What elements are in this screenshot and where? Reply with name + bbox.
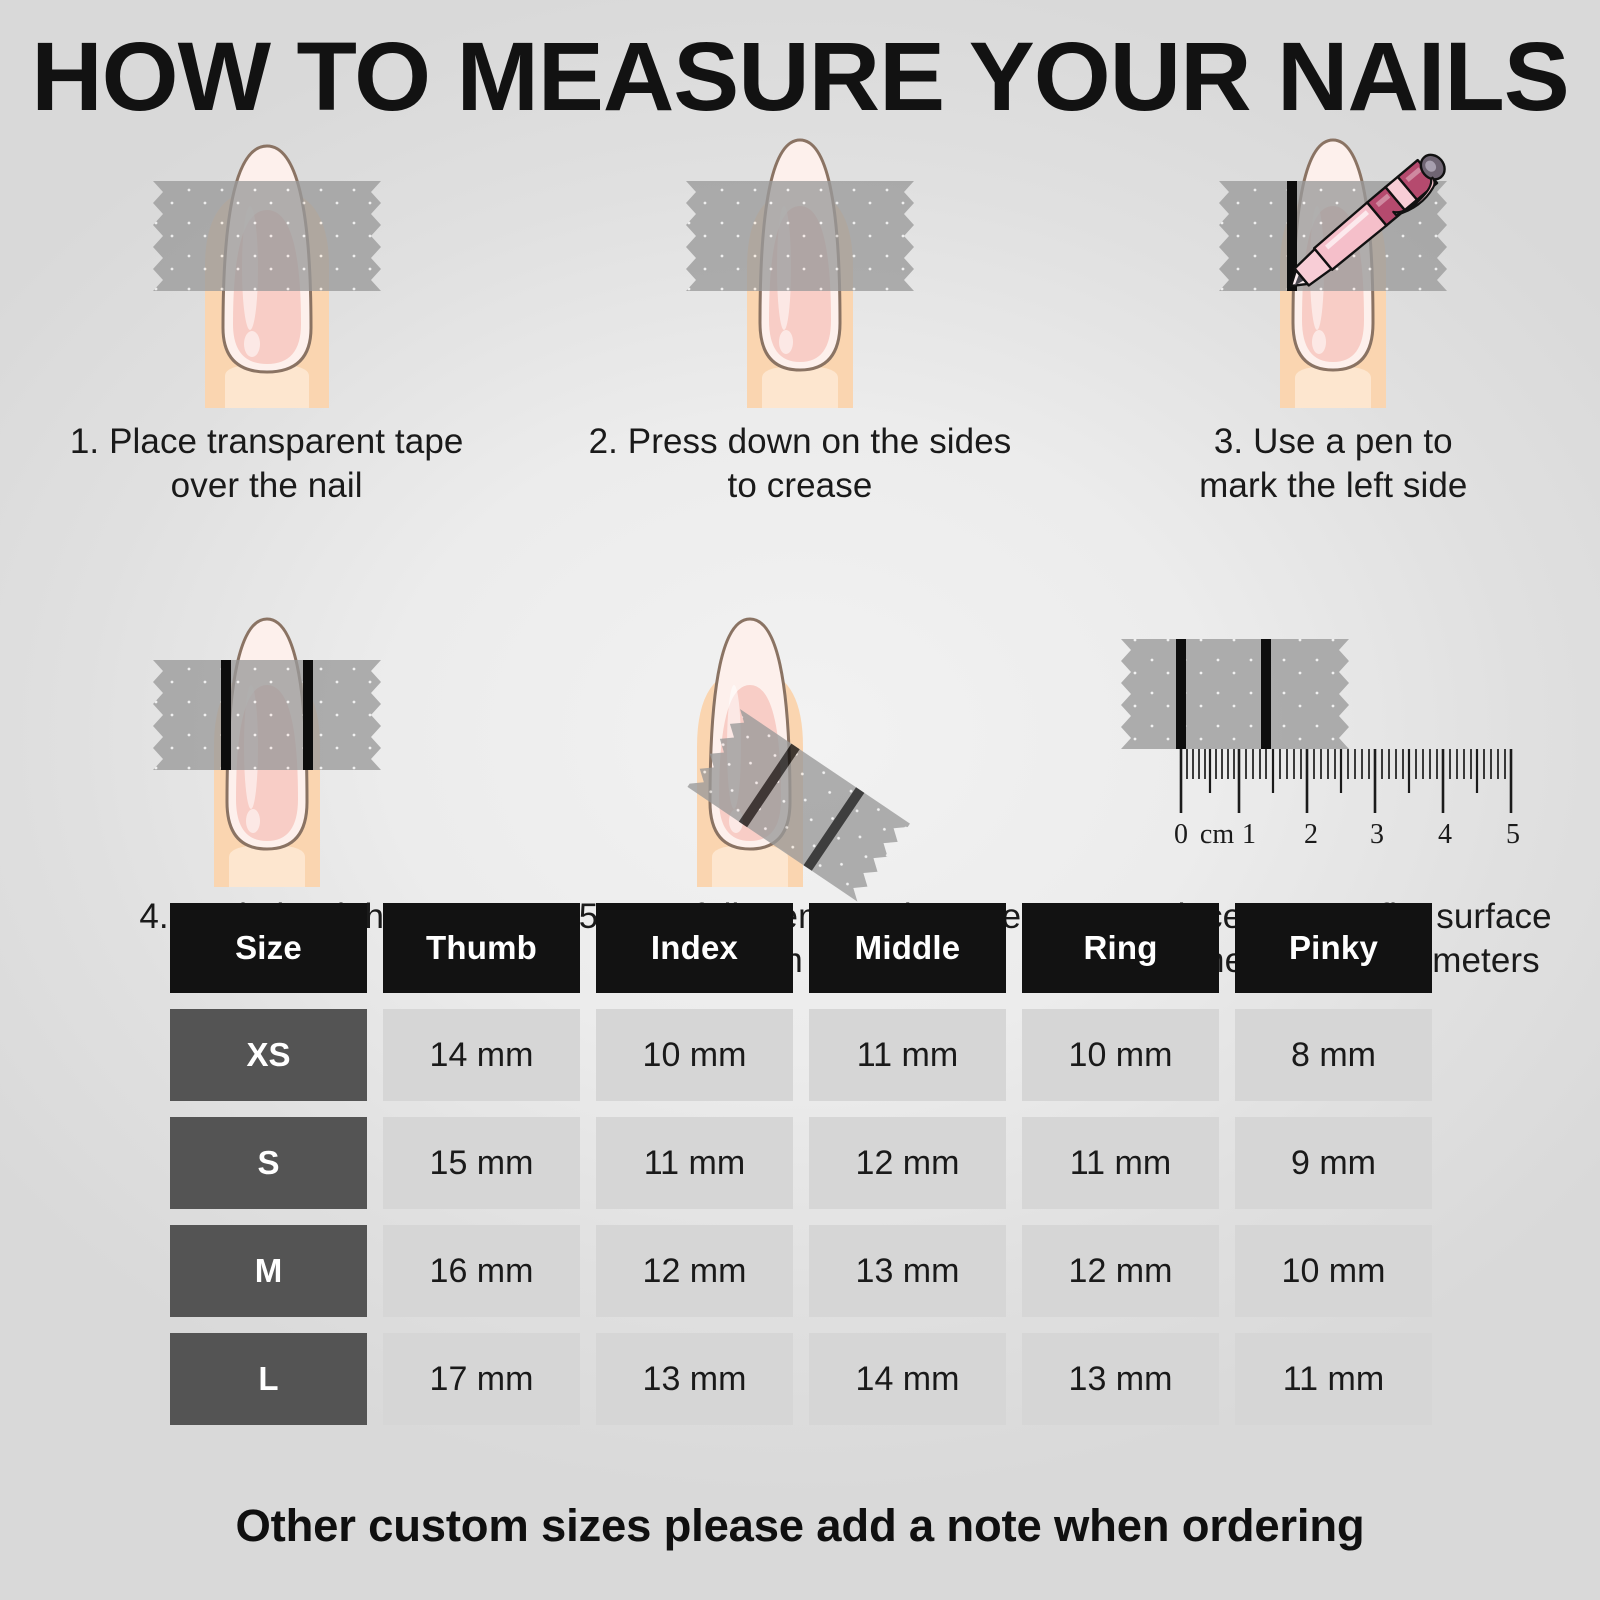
cell-m-ring: 12 mm <box>1022 1225 1219 1317</box>
step-1: 1. Place transparent tape over the nail <box>0 118 533 509</box>
ruler-label-1: 1 <box>1242 819 1256 850</box>
step-3-caption-line2: mark the left side <box>1199 464 1467 508</box>
ruler-label-5: 5 <box>1506 819 1520 850</box>
cell-m-pinky: 10 mm <box>1235 1225 1432 1317</box>
cell-s-index: 11 mm <box>596 1117 793 1209</box>
tape-strip <box>153 660 381 770</box>
table-header-ring: Ring <box>1022 903 1219 993</box>
ruler-label-0: 0 <box>1174 819 1188 850</box>
cell-s-ring: 11 mm <box>1022 1117 1219 1209</box>
table-header-middle: Middle <box>809 903 1006 993</box>
step-3-caption-line1: 3. Use a pen to <box>1199 420 1467 464</box>
size-chart-table: Size Thumb Index Middle Ring Pinky XS 14… <box>170 903 1462 1425</box>
cell-xs-middle: 11 mm <box>809 1009 1006 1101</box>
ruler-unit-label: cm <box>1200 819 1234 850</box>
cell-xs-index: 10 mm <box>596 1009 793 1101</box>
step-2-illustration <box>533 118 1066 408</box>
size-label-xs: XS <box>170 1009 367 1101</box>
nail-pen-mark-figure <box>1168 118 1498 408</box>
nail-two-marks-figure <box>117 597 417 887</box>
step-1-caption: 1. Place transparent tape over the nail <box>70 420 464 509</box>
cell-l-pinky: 11 mm <box>1235 1333 1432 1425</box>
size-label-s: S <box>170 1117 367 1209</box>
step-1-caption-line2: over the nail <box>70 464 464 508</box>
step-5-illustration <box>533 597 1066 887</box>
footer-note: Other custom sizes please add a note whe… <box>0 1500 1600 1552</box>
tape-strip <box>1121 639 1349 749</box>
left-mark <box>1176 639 1186 749</box>
steps-grid: 1. Place transparent tape over the nail <box>0 118 1600 984</box>
nail-tape-removed-figure <box>610 597 990 887</box>
step-1-caption-line1: 1. Place transparent tape <box>70 420 464 464</box>
cell-m-index: 12 mm <box>596 1225 793 1317</box>
table-row: L 17 mm 13 mm 14 mm 13 mm 11 mm <box>170 1333 1462 1425</box>
table-row: XS 14 mm 10 mm 11 mm 10 mm 8 mm <box>170 1009 1462 1101</box>
size-label-l: L <box>170 1333 367 1425</box>
tape-strip <box>153 181 381 291</box>
tape-on-ruler-figure: 0 cm 1 2 3 4 5 <box>1113 621 1553 871</box>
nail-with-tape-figure <box>117 118 417 408</box>
table-header-row: Size Thumb Index Middle Ring Pinky <box>170 903 1462 993</box>
table-header-index: Index <box>596 903 793 993</box>
cell-s-middle: 12 mm <box>809 1117 1006 1209</box>
step-3-caption: 3. Use a pen to mark the left side <box>1199 420 1467 509</box>
left-mark <box>221 660 231 770</box>
ruler-label-4: 4 <box>1438 819 1452 850</box>
infographic-root: HOW TO MEASURE YOUR NAILS <box>0 0 1600 1600</box>
table-header-pinky: Pinky <box>1235 903 1432 993</box>
cell-l-ring: 13 mm <box>1022 1333 1219 1425</box>
cell-xs-pinky: 8 mm <box>1235 1009 1432 1101</box>
steps-row-1: 1. Place transparent tape over the nail <box>0 118 1600 509</box>
cell-l-middle: 14 mm <box>809 1333 1006 1425</box>
ruler-label-3: 3 <box>1370 819 1384 850</box>
step-4-illustration <box>0 597 533 887</box>
step-3-illustration <box>1067 118 1600 408</box>
table-header-thumb: Thumb <box>383 903 580 993</box>
cell-s-pinky: 9 mm <box>1235 1117 1432 1209</box>
ruler-ticks <box>1181 749 1511 813</box>
cell-l-thumb: 17 mm <box>383 1333 580 1425</box>
step-2-caption: 2. Press down on the sides to crease <box>589 420 1012 509</box>
step-1-illustration <box>0 118 533 408</box>
cell-l-index: 13 mm <box>596 1333 793 1425</box>
tape-strip <box>686 181 914 291</box>
size-label-m: M <box>170 1225 367 1317</box>
cell-m-thumb: 16 mm <box>383 1225 580 1317</box>
cell-xs-ring: 10 mm <box>1022 1009 1219 1101</box>
ruler-label-2: 2 <box>1304 819 1318 850</box>
step-2: 2. Press down on the sides to crease <box>533 118 1066 509</box>
cell-m-middle: 13 mm <box>809 1225 1006 1317</box>
step-3: 3. Use a pen to mark the left side <box>1067 118 1600 509</box>
page-title: HOW TO MEASURE YOUR NAILS <box>0 28 1600 127</box>
table-row: M 16 mm 12 mm 13 mm 12 mm 10 mm <box>170 1225 1462 1317</box>
step-2-caption-line2: to crease <box>589 464 1012 508</box>
nail-creased-tape-figure <box>650 118 950 408</box>
step-6-illustration: 0 cm 1 2 3 4 5 <box>1067 597 1600 887</box>
cell-s-thumb: 15 mm <box>383 1117 580 1209</box>
table-header-size: Size <box>170 903 367 993</box>
cell-xs-thumb: 14 mm <box>383 1009 580 1101</box>
right-mark <box>1261 639 1271 749</box>
step-2-caption-line1: 2. Press down on the sides <box>589 420 1012 464</box>
table-row: S 15 mm 11 mm 12 mm 11 mm 9 mm <box>170 1117 1462 1209</box>
right-mark <box>303 660 313 770</box>
